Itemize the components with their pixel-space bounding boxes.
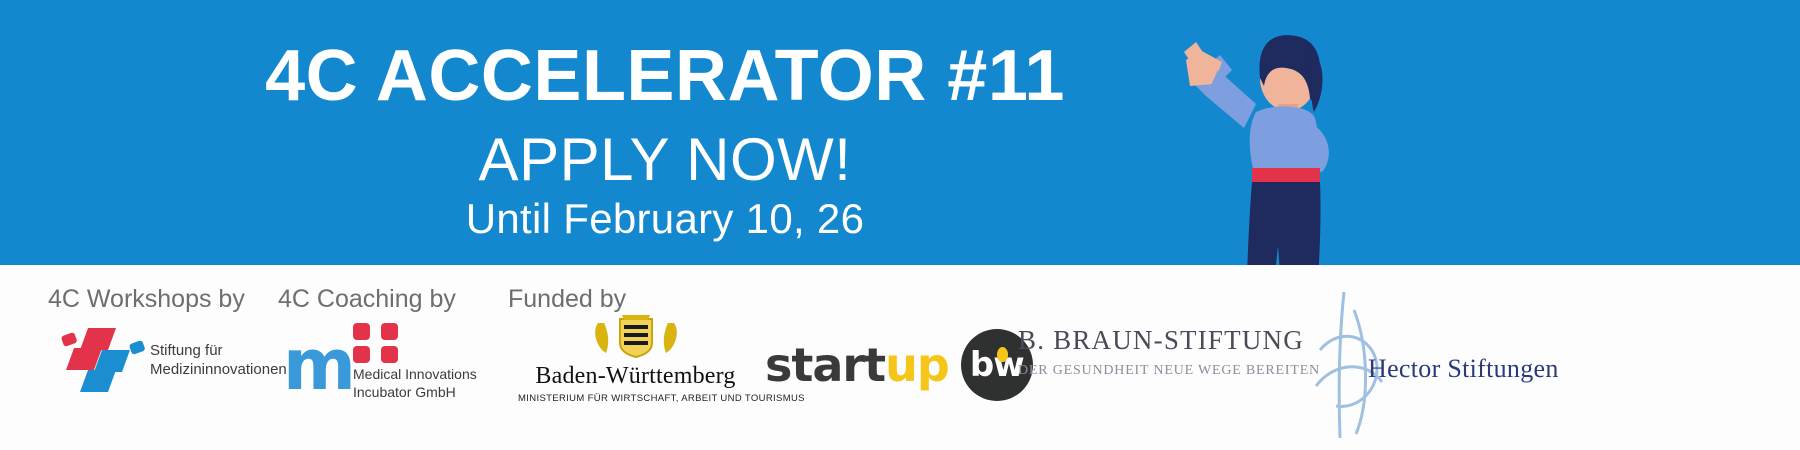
partner-logo-bar: 4C Workshops by Stiftung für Medizininno…	[0, 265, 1800, 450]
baden-wuerttemberg-title: Baden-Württemberg	[518, 363, 753, 390]
partner-b-braun-stiftung: B. BRAUN-STIFTUNG DER GESUNDHEIT NEUE WE…	[1000, 265, 1280, 450]
partner-funder: Funded by Baden-Württemberg MINISTERIUM …	[508, 265, 753, 450]
banner-call-to-action: APPLY NOW!	[479, 130, 852, 190]
baden-wuerttemberg-ministry: MINISTERIUM FÜR WIRTSCHAFT, ARBEIT UND T…	[518, 393, 753, 404]
hero-section: 4C ACCELERATOR #11 APPLY NOW! Until Febr…	[0, 0, 1800, 265]
caption-coaching: 4C Coaching by	[278, 285, 456, 314]
medizininnovationen-mark-icon	[58, 320, 153, 395]
stiftung-line-1: Stiftung für	[150, 342, 287, 361]
startup-word-accent: up	[885, 338, 949, 392]
caption-funded: Funded by	[508, 285, 626, 314]
hero-text-group: 4C ACCELERATOR #11 APPLY NOW! Until Febr…	[0, 0, 1330, 265]
banner-headline: 4C ACCELERATOR #11	[265, 40, 1065, 112]
stiftung-fuer-medizininnovationen-logo: Stiftung für Medizininnovationen	[58, 320, 283, 400]
stiftung-logo-text: Stiftung für Medizininnovationen	[150, 342, 287, 380]
caption-workshops: 4C Workshops by	[48, 285, 245, 314]
partner-coaching: 4C Coaching by m Medical Innovations Inc…	[278, 265, 508, 450]
mii-line-1: Medical Innovations	[353, 365, 477, 383]
stiftung-line-2: Medizininnovationen	[150, 361, 287, 380]
baden-wuerttemberg-crest-icon	[590, 313, 682, 359]
baden-wuerttemberg-logo: Baden-Württemberg MINISTERIUM FÜR WIRTSC…	[518, 313, 753, 408]
startup-wordmark: startup	[765, 342, 949, 388]
partner-workshops: 4C Workshops by Stiftung für Medizininno…	[48, 265, 278, 450]
partner-startup-bw: startup bw	[753, 265, 993, 450]
hector-stiftungen-title: Hector Stiftungen	[1368, 354, 1559, 384]
b-braun-stiftung-logo: B. BRAUN-STIFTUNG DER GESUNDHEIT NEUE WE…	[1018, 325, 1278, 379]
b-braun-title: B. BRAUN-STIFTUNG	[1018, 325, 1278, 356]
banner-deadline: Until February 10, 26	[466, 198, 865, 240]
medical-innovations-incubator-logo: m Medical Innovations Incubator GmbH	[283, 317, 513, 402]
mii-logo-text: Medical Innovations Incubator GmbH	[353, 365, 477, 401]
mii-line-2: Incubator GmbH	[353, 383, 477, 401]
partner-hector-stiftungen: Hector Stiftungen	[1300, 265, 1560, 450]
mii-letter-m: m	[283, 339, 356, 392]
startup-bw-logo: startup bw	[765, 325, 1033, 405]
b-braun-tagline: DER GESUNDHEIT NEUE WEGE BEREITEN	[1018, 363, 1278, 379]
startup-word-dark: start	[765, 338, 885, 392]
hector-stiftungen-logo: Hector Stiftungen	[1310, 320, 1560, 410]
mii-dots-icon	[353, 323, 399, 363]
promotional-banner: 4C ACCELERATOR #11 APPLY NOW! Until Febr…	[0, 0, 1800, 450]
